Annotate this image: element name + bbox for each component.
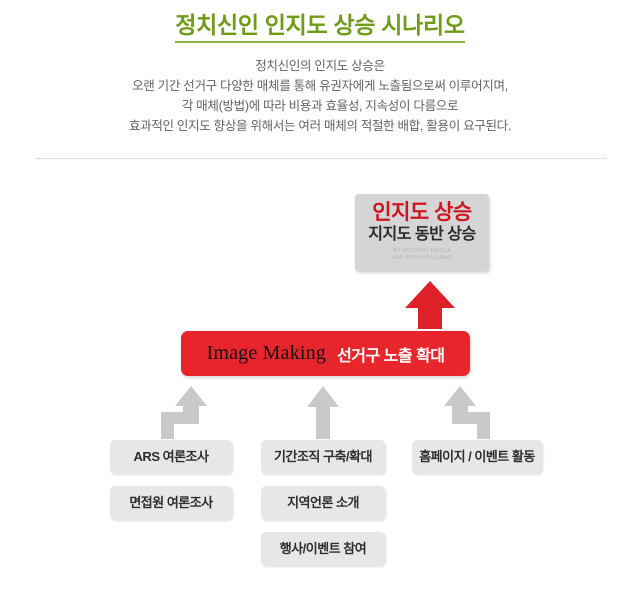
- channel-item[interactable]: 기간조직 구축/확대: [261, 440, 385, 474]
- diagram-canvas: 인지도 상승 지지도 동반 상승 BY ANTHONY FAIOLA AND R…: [0, 175, 640, 612]
- channel-column-left: ARS 여론조사 면접원 여론조사: [110, 440, 232, 532]
- description-line-1: 정치신인의 인지도 상승은: [0, 56, 640, 76]
- goal-card: 인지도 상승 지지도 동반 상승 BY ANTHONY FAIOLA AND R…: [355, 194, 489, 271]
- goal-credit-line-1: BY ANTHONY FAIOLA: [355, 248, 489, 255]
- goal-credit-line-2: AND ROBIN SHULMAN: [355, 255, 489, 262]
- description-line-3: 각 매체(방법)에 따라 비용과 효율성, 지속성이 다름으로: [0, 96, 640, 116]
- description-line-4: 효과적인 인지도 향상을 위해서는 여러 매체의 적절한 배합, 활용이 요구된…: [0, 116, 640, 136]
- header-block: 정치신인 인지도 상승 시나리오 정치신인의 인지도 상승은 오랜 기간 선거구…: [0, 0, 640, 136]
- goal-primary-label: 인지도 상승: [355, 200, 489, 225]
- bent-up-right-arrow-icon: [160, 386, 208, 439]
- page-title-text: 정치신인 인지도 상승 시나리오: [175, 12, 464, 43]
- description-block: 정치신인의 인지도 상승은 오랜 기간 선거구 다양한 매체를 통해 유권자에게…: [0, 56, 640, 136]
- channel-column-right: 홈페이지 / 이벤트 활동: [412, 440, 542, 486]
- banner-english-label: Image Making: [206, 342, 326, 365]
- description-line-2: 오랜 기간 선거구 다양한 매체를 통해 유권자에게 노출됨으로써 이루어지며,: [0, 76, 640, 96]
- channel-item[interactable]: 면접원 여론조사: [110, 486, 232, 520]
- page-title: 정치신인 인지도 상승 시나리오: [0, 0, 640, 40]
- section-divider: [36, 158, 606, 159]
- red-up-arrow-icon: [402, 279, 458, 335]
- goal-secondary-label: 지지도 동반 상승: [355, 225, 489, 245]
- channel-column-middle: 기간조직 구축/확대 지역언론 소개 행사/이벤트 참여: [261, 440, 385, 578]
- bent-up-left-arrow-icon: [443, 386, 491, 439]
- channel-item[interactable]: ARS 여론조사: [110, 440, 232, 474]
- channel-item[interactable]: 지역언론 소개: [261, 486, 385, 520]
- straight-up-arrow-icon: [299, 386, 347, 439]
- image-making-banner: Image Making 선거구 노출 확대: [181, 331, 470, 376]
- channel-item[interactable]: 행사/이벤트 참여: [261, 532, 385, 566]
- banner-korean-label: 선거구 노출 확대: [337, 342, 444, 366]
- goal-credit: BY ANTHONY FAIOLA AND ROBIN SHULMAN: [355, 248, 489, 262]
- channel-item[interactable]: 홈페이지 / 이벤트 활동: [412, 440, 542, 474]
